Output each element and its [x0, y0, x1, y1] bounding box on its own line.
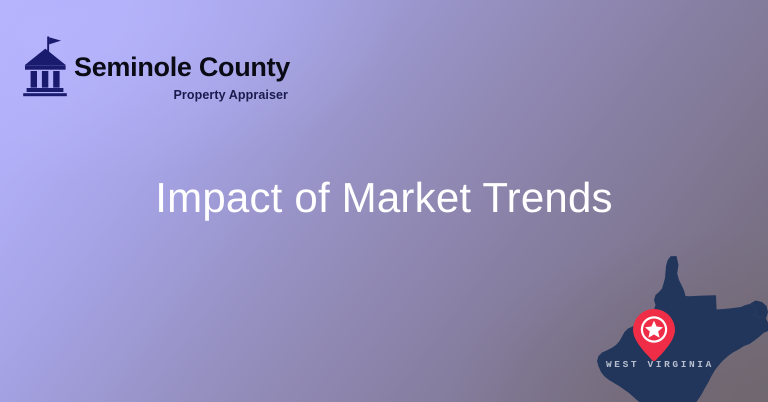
state-name-label: WEST VIRGINIA [606, 359, 714, 370]
state-map-graphic: WEST VIRGINIA [592, 252, 768, 402]
brand-subtitle: Property Appraiser [173, 89, 288, 102]
brand-logo[interactable]: Seminole County Property Appraiser [22, 34, 290, 102]
west-virginia-map-icon [592, 252, 768, 402]
page-title: Impact of Market Trends [0, 175, 768, 221]
brand-wordmark: Seminole County Property Appraiser [74, 34, 290, 102]
brand-title: Seminole County [74, 54, 290, 81]
banner-canvas: Seminole County Property Appraiser Impac… [0, 0, 768, 402]
courthouse-icon [22, 35, 68, 97]
